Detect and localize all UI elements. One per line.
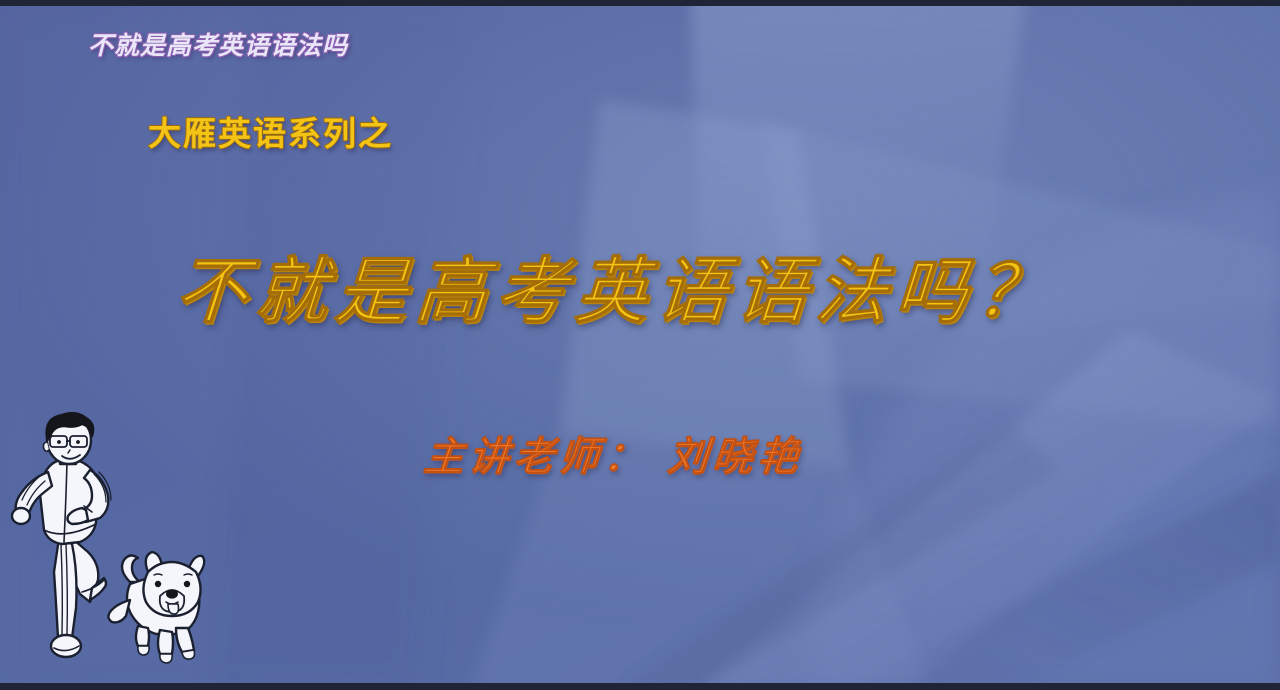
- text-layer: 不就是高考英语语法吗 大雁英语系列之 不就是高考英语语法吗？ 主讲老师： 刘晓艳: [0, 0, 1280, 690]
- corner-title: 不就是高考英语语法吗: [88, 26, 348, 62]
- letterbox-top: [0, 0, 1280, 6]
- lecturer-line: 主讲老师： 刘晓艳: [421, 424, 805, 482]
- main-title: 不就是高考英语语法吗？: [172, 232, 1059, 337]
- series-line: 大雁英语系列之: [148, 107, 393, 155]
- slide-canvas: 不就是高考英语语法吗 大雁英语系列之 不就是高考英语语法吗？ 主讲老师： 刘晓艳: [0, 0, 1280, 690]
- letterbox-bottom: [0, 683, 1280, 690]
